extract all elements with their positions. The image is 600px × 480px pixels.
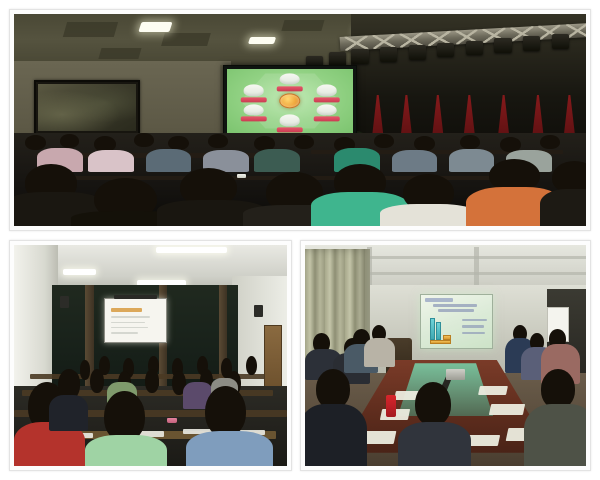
foreground-attendee-head	[415, 382, 452, 426]
framed-landscape-painting	[34, 80, 140, 135]
auditorium-projector-screen	[223, 65, 357, 137]
desktop-device	[446, 369, 466, 380]
slide-heading-line	[433, 304, 477, 307]
wall-speaker	[60, 296, 69, 308]
photo-lecture-hall-session[interactable]	[9, 240, 292, 471]
attendee-head	[145, 369, 159, 393]
foreground-attendee-head	[205, 386, 246, 437]
exit-door	[264, 325, 282, 396]
foreground-attendee-body-mint	[85, 435, 167, 466]
attendee-head	[540, 135, 559, 149]
stage-light-fixture	[351, 49, 368, 64]
foreground-attendee-body-white	[380, 204, 477, 226]
chart-axis-base	[430, 340, 451, 343]
ceiling-panel	[281, 20, 324, 31]
stage-light-fixture	[494, 38, 511, 53]
slide-node-icon	[317, 85, 337, 97]
foreground-attendee-head	[316, 369, 350, 409]
fluorescent-tube-light	[63, 269, 96, 275]
photo-conference-room-meeting[interactable]	[300, 240, 591, 471]
slide-node-icon	[280, 73, 300, 85]
attendee-head	[90, 369, 104, 393]
chart-legend-entry	[462, 325, 483, 327]
attendee-head	[294, 135, 313, 149]
slide-node-upper-left	[240, 84, 267, 103]
auditorium-scene	[14, 14, 586, 226]
attendee-head	[134, 133, 153, 147]
attendee-body	[449, 149, 495, 172]
paper-document	[467, 435, 500, 446]
slide-node-icon	[317, 104, 337, 116]
stage-light-fixture	[409, 45, 426, 60]
attendee-body	[49, 395, 87, 430]
ceiling-panel	[63, 22, 119, 37]
slide-body-line	[111, 322, 145, 324]
slide-title-text	[111, 308, 143, 312]
slide-node-label-banner	[314, 117, 340, 122]
paper-document	[478, 386, 508, 395]
attendee-body	[364, 338, 395, 367]
slide-body-line	[111, 332, 138, 334]
slide-node-lower-right	[313, 103, 340, 122]
slide-node-icon	[243, 104, 263, 116]
projected-slide-hex-diagram	[227, 69, 353, 133]
slide-body-line	[111, 327, 147, 329]
ceiling-panel	[98, 48, 141, 59]
wall-speaker	[254, 305, 263, 317]
slide-node-upper-right	[313, 84, 340, 103]
slide-body-line	[111, 316, 150, 318]
slide-node-label-banner	[277, 86, 303, 91]
paper-document	[489, 404, 525, 415]
attendee-head	[25, 135, 46, 150]
fluorescent-tube-light	[156, 247, 227, 253]
chart-legend-entry	[462, 332, 485, 334]
chart-bar-teal	[430, 318, 435, 340]
slide-node-bottom	[277, 114, 304, 133]
photo-auditorium-training-session[interactable]	[9, 9, 591, 231]
attendee-body	[146, 149, 192, 172]
chart-bar-teal	[436, 322, 441, 340]
attendee-head	[246, 356, 257, 376]
pink-travel-mug	[167, 418, 177, 422]
foreground-attendee-body	[524, 404, 586, 466]
stage-light-fixture	[466, 41, 483, 56]
foreground-attendee-body	[305, 404, 367, 466]
slide-node-icon	[280, 115, 300, 127]
lecture-hall-projector-screen	[104, 298, 167, 343]
foreground-attendee-body	[540, 189, 586, 226]
attendee-head	[60, 134, 79, 148]
conference-room-scene	[305, 245, 586, 466]
attendee-body	[88, 150, 134, 172]
slide-node-label-banner	[314, 97, 340, 102]
slide-node-lower-left	[240, 103, 267, 122]
paper-cup	[237, 174, 246, 179]
stage-light-fixture	[523, 36, 540, 51]
foreground-attendee-body-blue	[186, 431, 273, 466]
slide-node-top	[277, 72, 304, 91]
slide-node-icon	[243, 85, 263, 97]
attendee-head	[374, 134, 393, 148]
attendee-head	[80, 360, 91, 380]
foreground-attendee-body	[398, 422, 471, 466]
slide-heading-line	[438, 309, 474, 312]
stage-light-fixture	[437, 43, 454, 58]
auditorium-audience-area	[14, 133, 586, 226]
slide-node-label-banner	[240, 117, 266, 122]
attendee-body	[392, 150, 438, 172]
stage-light-fixture	[380, 47, 397, 62]
ceiling-grid-line	[474, 247, 480, 287]
screen-roller-casing	[114, 295, 158, 299]
ceiling-light	[138, 22, 173, 32]
attendee-body	[254, 149, 300, 172]
foreground-attendee-head	[541, 369, 575, 409]
conference-projector-screen	[420, 294, 493, 349]
red-thermos-bottle	[386, 395, 396, 417]
photo-collage	[0, 0, 600, 480]
stage-light-fixture	[552, 34, 569, 49]
ceiling-panel	[161, 33, 210, 46]
lecture-hall-scene	[14, 245, 287, 466]
attendee-head	[460, 135, 479, 149]
ceiling-light	[247, 37, 275, 44]
slide-node-label-banner	[240, 97, 266, 102]
chart-legend-entry	[462, 319, 486, 321]
attendee-head	[208, 134, 227, 148]
lecture-hall-left-wall	[14, 245, 58, 404]
slide-title-text	[425, 298, 453, 301]
